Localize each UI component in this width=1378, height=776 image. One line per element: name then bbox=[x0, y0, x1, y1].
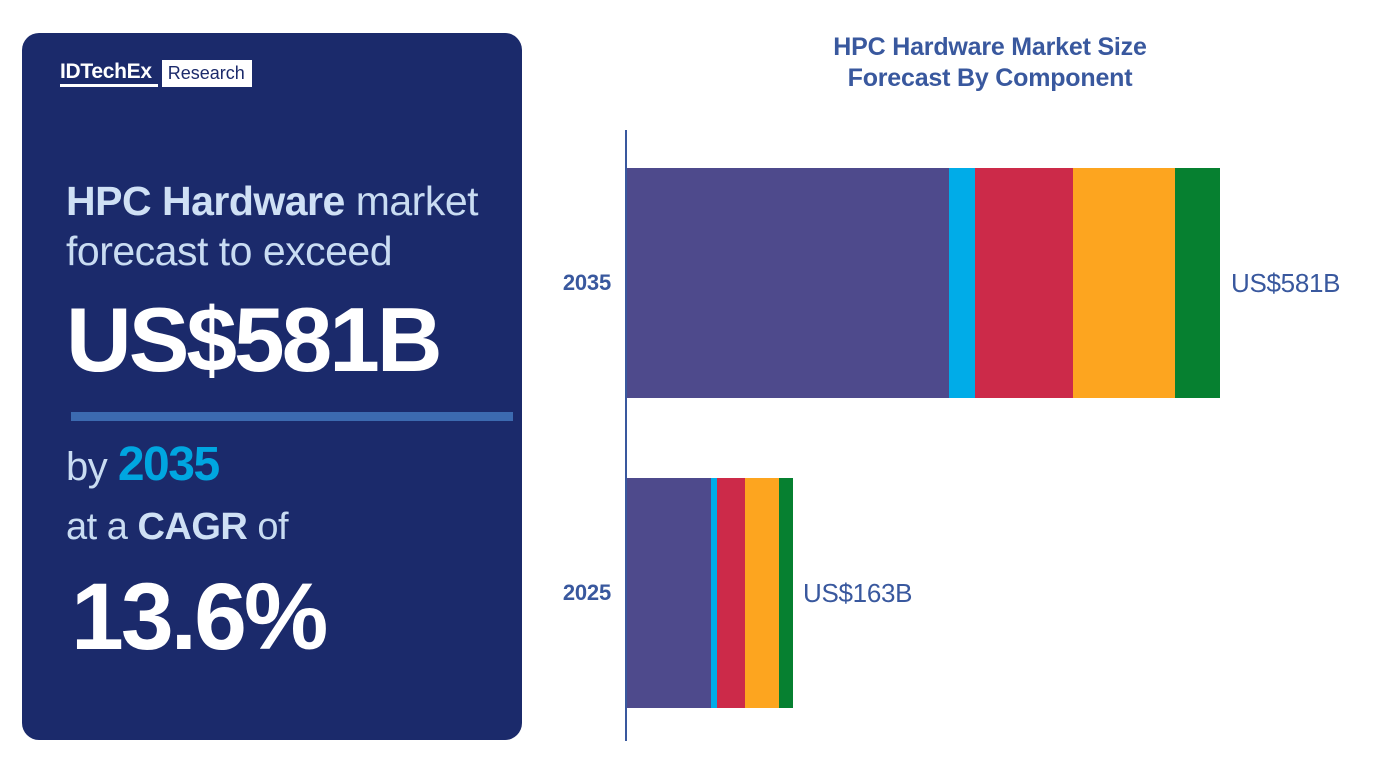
chart-title-line-1: HPC Hardware Market Size bbox=[700, 32, 1280, 63]
chart-title-line-2: Forecast By Component bbox=[700, 63, 1280, 94]
cagr-emphasis: CAGR bbox=[137, 506, 247, 548]
bar-value-label-2025: US$163B bbox=[803, 578, 912, 608]
bar-segment-component-5 bbox=[779, 478, 793, 708]
cagr-line: at a CAGR of bbox=[66, 503, 288, 551]
bar-segment-component-1 bbox=[627, 168, 949, 398]
cagr-prefix: at a bbox=[66, 506, 137, 548]
logo-research-badge: Research bbox=[162, 60, 252, 87]
bar-value-label-2035: US$581B bbox=[1231, 268, 1340, 298]
stacked-bar-2025 bbox=[627, 478, 793, 708]
chart-title: HPC Hardware Market Size Forecast By Com… bbox=[700, 32, 1280, 94]
cagr-value: 13.6% bbox=[71, 563, 325, 671]
headline-big-number: US$581B bbox=[66, 291, 440, 391]
axis-label-2025: 2025 bbox=[531, 580, 611, 606]
headline-emphasis: HPC Hardware bbox=[66, 178, 345, 224]
headline: HPC Hardware market forecast to exceed bbox=[66, 176, 526, 276]
bar-segment-component-3 bbox=[717, 478, 745, 708]
divider-rule bbox=[71, 412, 513, 421]
stat-card: IDTechEx Research HPC Hardware market fo… bbox=[22, 33, 522, 740]
bar-segment-component-2 bbox=[949, 168, 976, 398]
idtechex-logo: IDTechEx Research bbox=[60, 60, 252, 87]
bar-segment-component-1 bbox=[627, 478, 711, 708]
forecast-year-line: by 2035 bbox=[66, 438, 219, 494]
bar-segment-component-5 bbox=[1175, 168, 1220, 398]
bar-segment-component-4 bbox=[745, 478, 779, 708]
by-prefix: by bbox=[66, 445, 118, 489]
stacked-bar-2035 bbox=[627, 168, 1220, 398]
infographic-canvas: IDTechEx Research HPC Hardware market fo… bbox=[0, 0, 1378, 776]
logo-wordmark: IDTechEx bbox=[60, 60, 158, 87]
axis-label-2035: 2035 bbox=[531, 270, 611, 296]
cagr-suffix: of bbox=[247, 506, 288, 548]
bar-segment-component-4 bbox=[1073, 168, 1175, 398]
forecast-year: 2035 bbox=[118, 438, 219, 491]
bar-segment-component-3 bbox=[975, 168, 1073, 398]
